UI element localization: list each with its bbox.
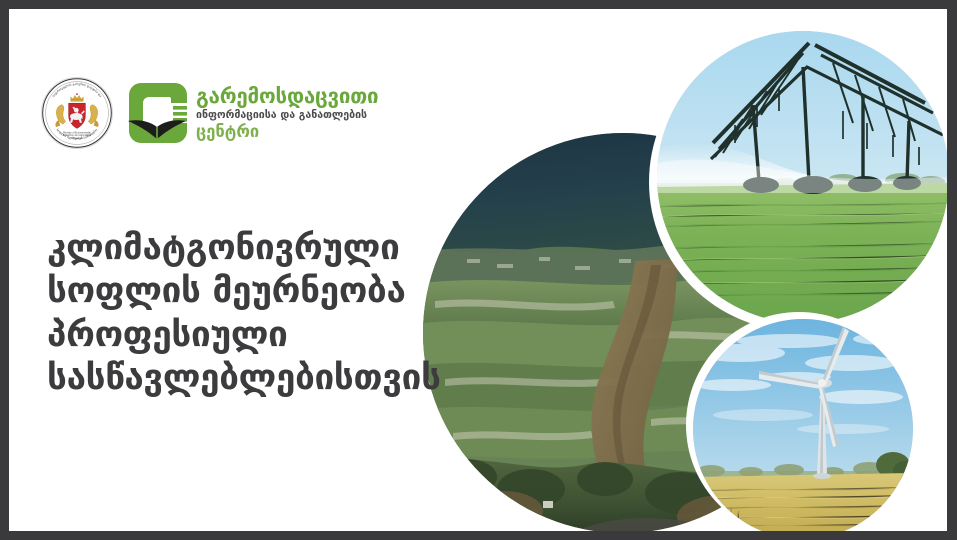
title-line-4: სასწავლებლებისთვის bbox=[47, 357, 441, 400]
photo-wind-turbine-field bbox=[693, 319, 913, 531]
title-line-1: კლიმატგონივრული bbox=[47, 227, 441, 270]
title-line-2: სოფლის მეურნეობა bbox=[47, 270, 441, 313]
photo-center-pivot-irrigation bbox=[657, 31, 947, 323]
page-title: კლიმატგონივრული სოფლის მეურნეობა პროფესი… bbox=[47, 227, 441, 401]
eiec-logo: გარემოსდაცვითი ინფორმაციისა და განათლები… bbox=[127, 81, 378, 145]
eiec-name-line3: ცენტრი bbox=[196, 124, 378, 141]
photo-aerial-farmland-fields bbox=[423, 133, 823, 531]
branding-row: საქართველოს გარემოს დაცვისა და სოფლის მე… bbox=[41, 77, 378, 149]
title-line-3: პროფესიული bbox=[47, 314, 441, 357]
eiec-wordmark: გარემოსდაცვითი ინფორმაციისა და განათლები… bbox=[196, 86, 378, 140]
open-book-in-green-c-mark-icon bbox=[127, 81, 189, 145]
svg-text:of Georgia: of Georgia bbox=[71, 137, 83, 140]
eiec-name-line1: გარემოსდაცვითი bbox=[196, 86, 378, 107]
slide-frame: საქართველოს გარემოს დაცვისა და სოფლის მე… bbox=[0, 0, 957, 540]
slide-canvas: საქართველოს გარემოს დაცვისა და სოფლის მე… bbox=[9, 9, 947, 531]
georgian-coat-of-arms-seal-icon: საქართველოს გარემოს დაცვისა და სოფლის მე… bbox=[41, 77, 113, 149]
eiec-name-line2: ინფორმაციისა და განათლების bbox=[196, 110, 378, 121]
